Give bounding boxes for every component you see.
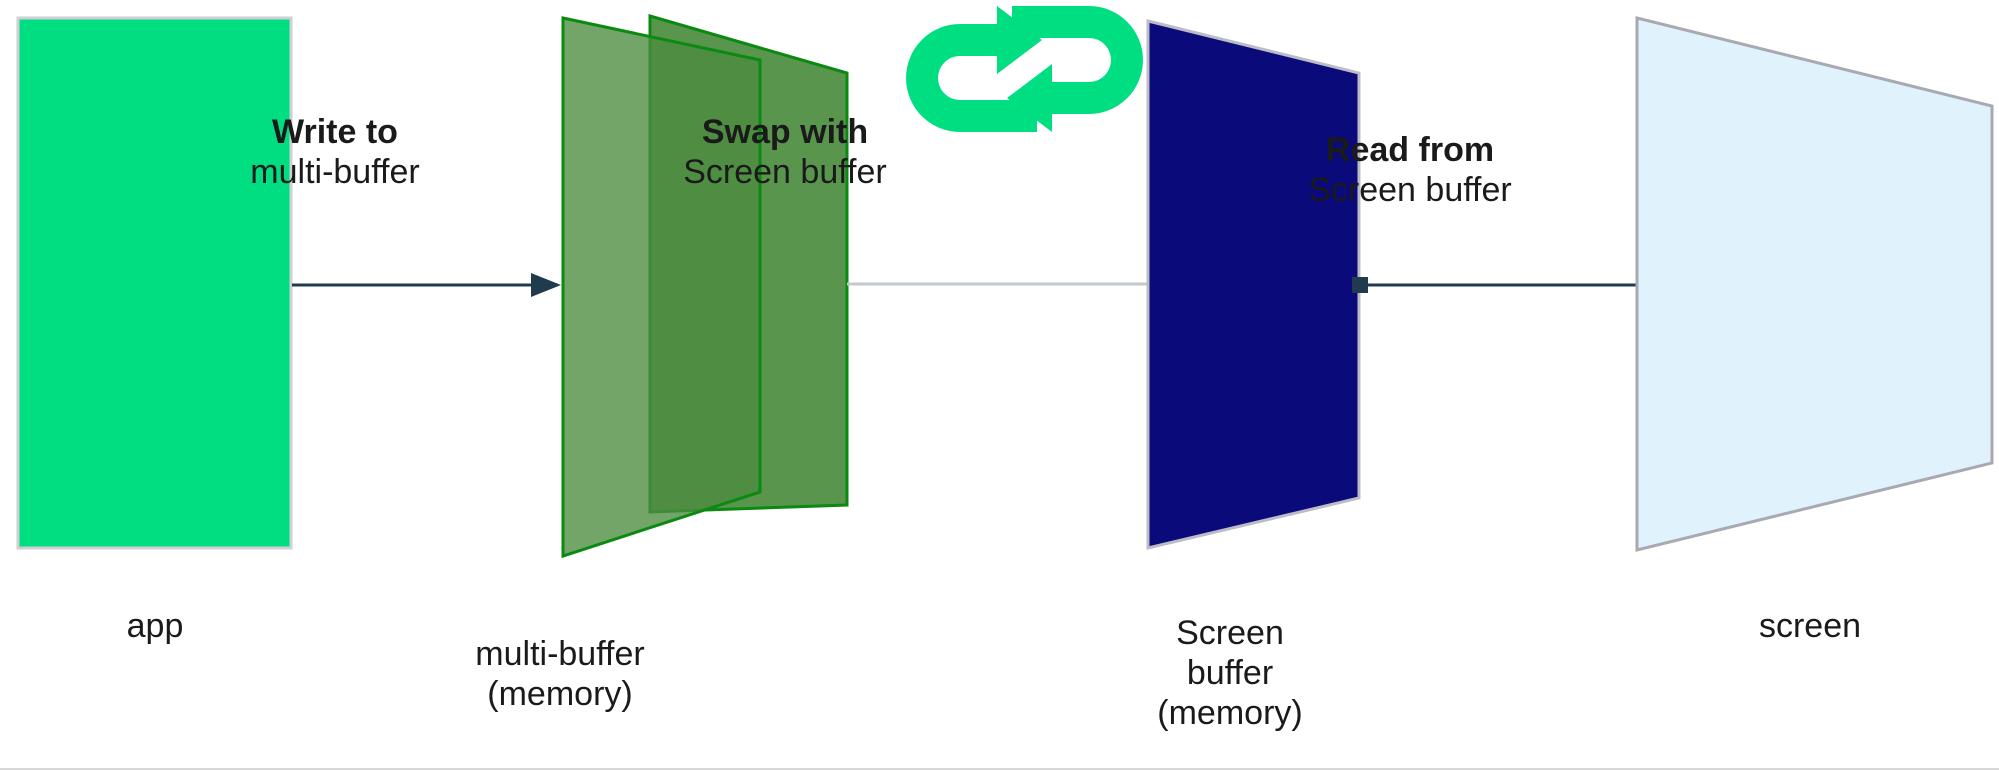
node-label-screen-buffer: Screen buffer (memory) <box>1130 613 1330 733</box>
screen-parallelogram[interactable] <box>1637 18 1992 550</box>
edge-label-read-from-bold: Read from <box>1275 130 1545 170</box>
node-label-screen-buffer-line-1: buffer <box>1130 653 1330 693</box>
edge-label-swap-with-bold: Swap with <box>655 112 915 152</box>
node-label-screen-buffer-line-2: (memory) <box>1130 693 1330 733</box>
edge-label-swap-with-regular: Screen buffer <box>655 152 915 192</box>
edge-label-write-to-bold: Write to <box>205 112 465 152</box>
swap-loop-icon <box>906 6 1143 132</box>
node-label-multi-buffer: multi-buffer (memory) <box>430 634 690 714</box>
node-multi-buffer[interactable] <box>563 16 847 556</box>
node-app[interactable] <box>18 18 291 548</box>
swap-arrow-lower <box>1007 6 1143 132</box>
diagram-canvas-root: Write to multi-buffer Swap with Screen b… <box>0 0 1999 771</box>
node-label-multi-buffer-line-1: (memory) <box>430 674 690 714</box>
node-label-screen-line-0: screen <box>1690 606 1930 646</box>
node-label-screen-buffer-line-0: Screen <box>1130 613 1330 653</box>
edge-label-read-from-regular: Screen buffer <box>1275 170 1545 210</box>
edge-read-from <box>1352 277 1638 293</box>
app-rectangle[interactable] <box>18 18 291 548</box>
multi-buffer-sheet-front[interactable] <box>563 18 760 556</box>
node-screen-buffer[interactable] <box>1148 21 1359 548</box>
read-from-source-marker <box>1352 277 1368 293</box>
node-label-screen: screen <box>1690 606 1930 646</box>
node-label-app: app <box>35 606 275 646</box>
node-screen[interactable] <box>1637 18 1992 550</box>
node-label-multi-buffer-line-0: multi-buffer <box>430 634 690 674</box>
screen-buffer-parallelogram[interactable] <box>1148 21 1359 548</box>
node-label-app-line-0: app <box>35 606 275 646</box>
edge-label-write-to-regular: multi-buffer <box>205 152 465 192</box>
edge-label-read-from: Read from Screen buffer <box>1275 130 1545 210</box>
edge-label-swap-with: Swap with Screen buffer <box>655 112 915 192</box>
edge-label-write-to: Write to multi-buffer <box>205 112 465 192</box>
